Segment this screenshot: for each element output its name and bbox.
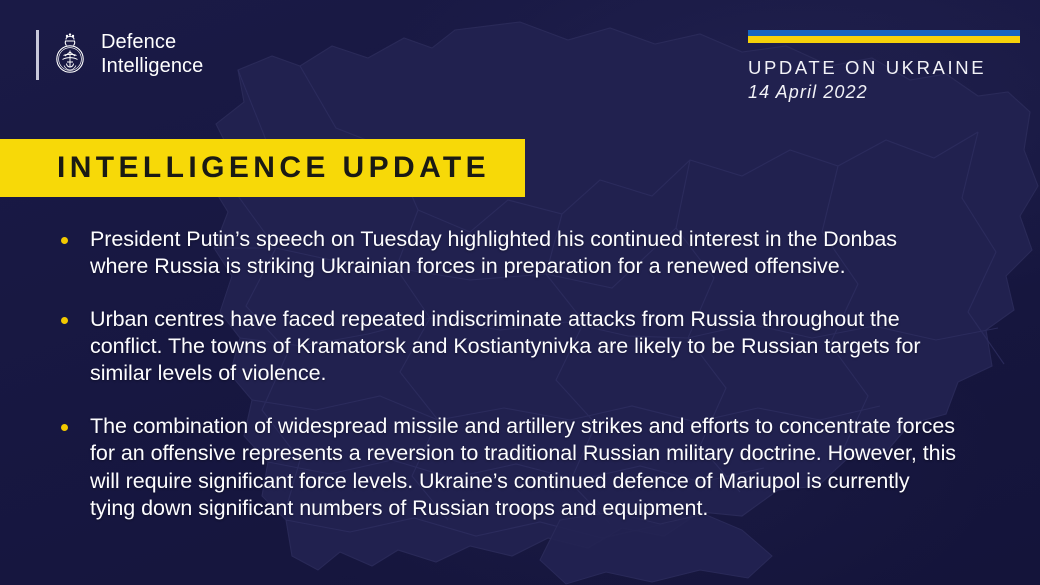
bullet-list: President Putin’s speech on Tuesday high…: [56, 226, 956, 522]
flag-yellow-stripe: [748, 36, 1020, 43]
update-date: 14 April 2022: [748, 82, 1030, 103]
update-header-block: UPDATE ON UKRAINE 14 April 2022: [748, 30, 1030, 103]
update-title: UPDATE ON UKRAINE: [748, 57, 1030, 79]
mod-crest-icon: [50, 30, 90, 80]
defence-intelligence-brand: Defence Intelligence: [36, 30, 203, 80]
intelligence-update-slide: Defence Intelligence UPDATE ON UKRAINE 1…: [0, 0, 1040, 585]
bullet-text: Urban centres have faced repeated indisc…: [90, 306, 956, 387]
brand-line-2: Intelligence: [101, 55, 203, 79]
vertical-rule-icon: [36, 30, 39, 80]
banner-title: INTELLIGENCE UPDATE: [57, 151, 490, 185]
bullet-text: President Putin’s speech on Tuesday high…: [90, 226, 956, 280]
brand-name: Defence Intelligence: [101, 31, 203, 78]
bullet-dot-icon: [61, 237, 68, 244]
list-item: The combination of widespread missile an…: [56, 413, 956, 521]
slide-header: Defence Intelligence UPDATE ON UKRAINE 1…: [0, 0, 1040, 130]
bullet-text: The combination of widespread missile an…: [90, 413, 956, 521]
ukraine-flag-bar-icon: [748, 30, 1020, 43]
list-item: President Putin’s speech on Tuesday high…: [56, 226, 956, 280]
bullet-dot-icon: [61, 317, 68, 324]
intelligence-update-banner: INTELLIGENCE UPDATE: [0, 139, 525, 197]
bullet-dot-icon: [61, 424, 68, 431]
list-item: Urban centres have faced repeated indisc…: [56, 306, 956, 387]
brand-line-1: Defence: [101, 31, 203, 55]
